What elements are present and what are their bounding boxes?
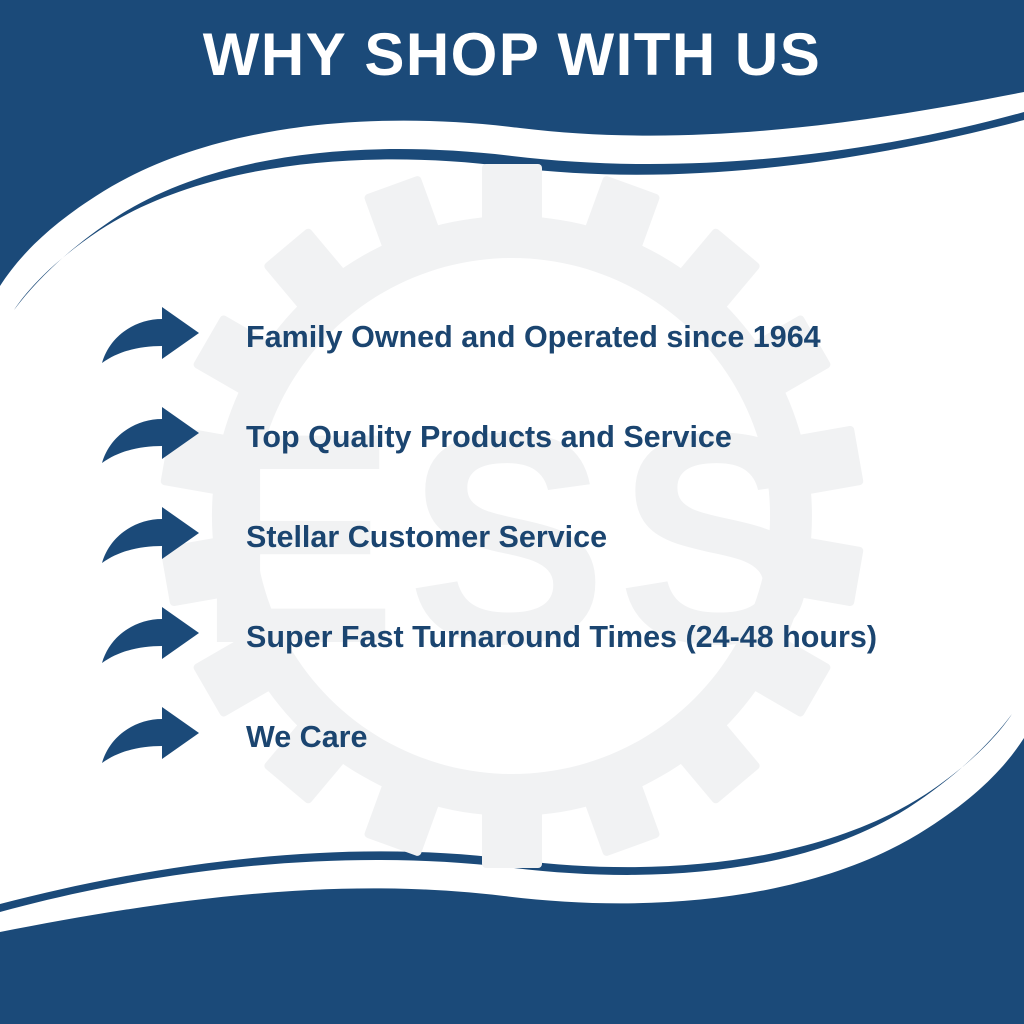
list-item: Super Fast Turnaround Times (24-48 hours…	[100, 588, 980, 688]
benefit-label: Top Quality Products and Service	[246, 421, 980, 455]
list-item: We Care	[100, 688, 980, 788]
list-item: Stellar Customer Service	[100, 488, 980, 588]
curved-arrow-right-icon	[100, 407, 200, 469]
benefit-label: We Care	[246, 721, 980, 755]
curved-arrow-right-icon	[100, 507, 200, 569]
list-item: Family Owned and Operated since 1964	[100, 288, 980, 388]
benefit-label: Family Owned and Operated since 1964	[246, 321, 980, 355]
benefits-list: Family Owned and Operated since 1964 Top…	[100, 288, 980, 788]
curved-arrow-right-icon	[100, 707, 200, 769]
top-wave-accent-swoosh	[14, 112, 1024, 310]
benefit-label: Super Fast Turnaround Times (24-48 hours…	[246, 621, 980, 655]
list-item: Top Quality Products and Service	[100, 388, 980, 488]
curved-arrow-right-icon	[100, 607, 200, 669]
curved-arrow-right-icon	[100, 307, 200, 369]
benefit-label: Stellar Customer Service	[246, 521, 980, 555]
why-shop-with-us-banner: ESS WHY SHOP WITH US Family Owned and Op…	[0, 0, 1024, 1024]
page-title: WHY SHOP WITH US	[203, 25, 822, 85]
header: WHY SHOP WITH US	[0, 0, 1024, 110]
